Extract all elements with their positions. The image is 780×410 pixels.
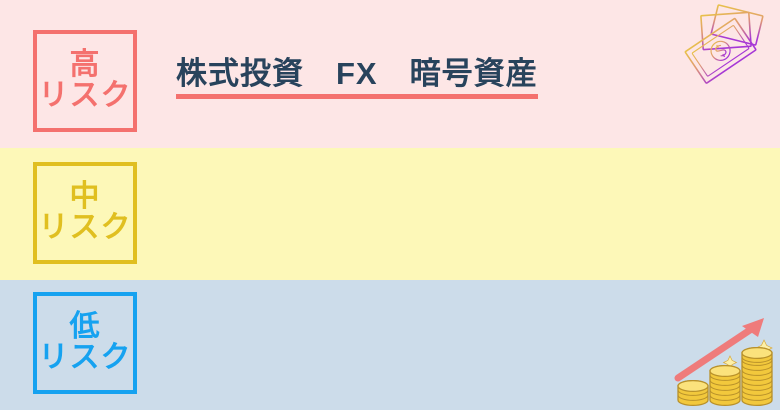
risk-band-low: 低 リスク 預貯金 国債 地方債 社債 金 保険 — [0, 280, 780, 410]
banknotes-icon — [668, 2, 772, 98]
risk-badge-mid-level: 中 — [70, 182, 101, 213]
risk-item-row: 株式投資 FX 暗号資産 — [176, 58, 538, 99]
risk-badge-high-label: リスク — [39, 81, 132, 112]
coin-stacks-growth-icon — [672, 304, 776, 408]
risk-badge-high: 高 リスク — [33, 30, 137, 132]
risk-band-high: 高 リスク 株式投資 FX 暗号資産 — [0, 0, 780, 148]
risk-badge-mid: 中 リスク — [33, 162, 137, 264]
risk-badge-high-level: 高 — [70, 50, 101, 81]
risk-pyramid-infographic: 高 リスク 株式投資 FX 暗号資産 — [0, 0, 780, 410]
risk-badge-low-label: リスク — [39, 343, 132, 374]
risk-badge-low-level: 低 — [70, 312, 101, 343]
risk-items-high: 株式投資 FX 暗号資産 — [176, 58, 538, 104]
risk-badge-mid-label: リスク — [39, 213, 132, 244]
risk-badge-low: 低 リスク — [33, 292, 137, 394]
risk-band-mid: 中 リスク 投資信託 REIT 実物不動産投資 不動産クラウドファンディング — [0, 148, 780, 280]
